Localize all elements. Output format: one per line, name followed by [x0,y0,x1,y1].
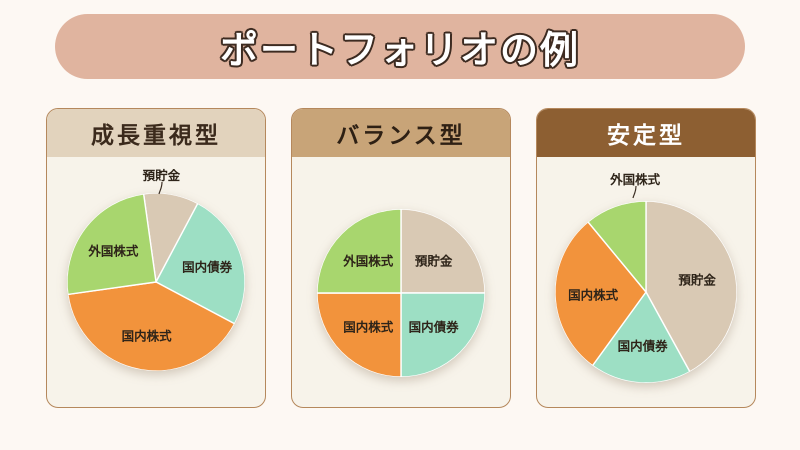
pie-chart-stable: 預貯金国内債券国内株式外国株式 [555,201,737,383]
leader-line [154,181,168,197]
card-body-stable: 預貯金国内債券国内株式外国株式 [537,157,755,407]
pie-graphic: 預貯金国内債券国内株式外国株式 [317,209,485,377]
pie-slice [401,209,485,293]
card-title-growth: 成長重視型 [91,116,221,150]
card-title-balanced: バランス型 [336,116,466,150]
page-title: ポートフォリオの例 [220,19,580,74]
title-banner: ポートフォリオの例 [55,14,745,79]
pie-graphic: 預貯金国内債券国内株式 [555,201,737,383]
leader-line [628,185,642,201]
card-title-stable: 安定型 [607,116,685,150]
card-body-growth: 国内債券国内株式外国株式預貯金 [47,157,265,407]
pie-slice [401,293,485,377]
pie-slice [317,209,401,293]
card-header-stable: 安定型 [537,109,755,157]
portfolio-card-stable: 安定型 預貯金国内債券国内株式外国株式 [536,108,756,408]
pie-chart-balanced: 預貯金国内債券国内株式外国株式 [317,209,485,377]
portfolio-card-balanced: バランス型 預貯金国内債券国内株式外国株式 [291,108,511,408]
card-body-balanced: 預貯金国内債券国内株式外国株式 [292,157,510,407]
portfolio-card-growth: 成長重視型 国内債券国内株式外国株式預貯金 [46,108,266,408]
pie-slice [67,194,156,295]
pie-graphic: 国内債券国内株式外国株式 [67,193,245,371]
pie-slice [317,293,401,377]
pie-chart-growth: 国内債券国内株式外国株式預貯金 [67,193,245,371]
card-header-balanced: バランス型 [292,109,510,157]
card-header-growth: 成長重視型 [47,109,265,157]
